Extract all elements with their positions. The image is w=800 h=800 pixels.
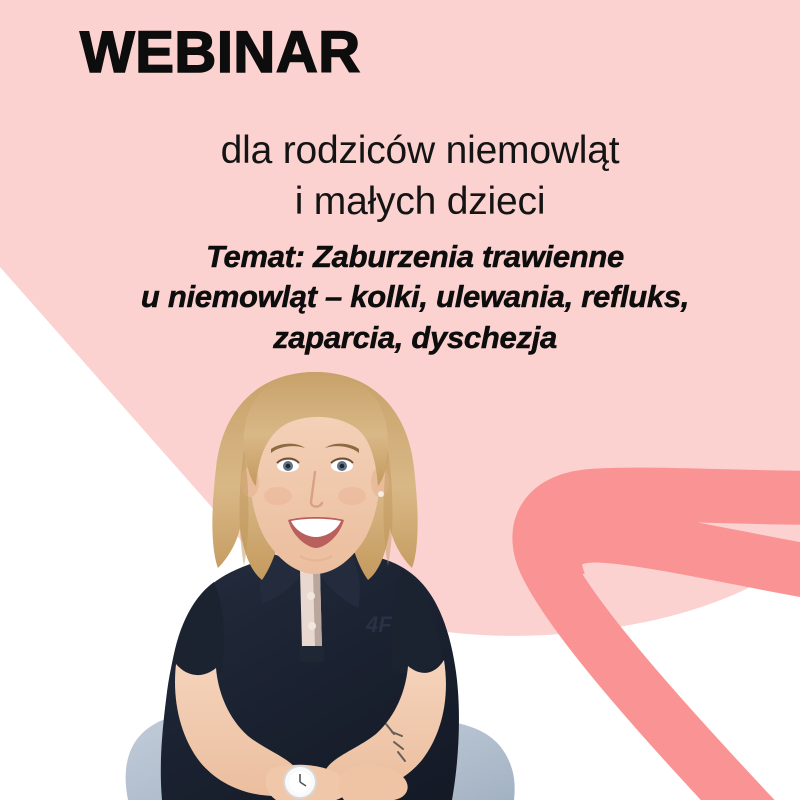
subtitle-block: dla rodziców niemowląt i małych dzieci: [140, 125, 700, 228]
pupil-left: [286, 464, 291, 469]
subtitle-line-2: i małych dzieci: [140, 176, 700, 227]
person-group: 4F: [126, 372, 515, 800]
sleeve-left: [172, 582, 224, 676]
earring: [378, 491, 384, 497]
polo-placket-end: [300, 646, 324, 662]
cheek-blush-right: [338, 487, 366, 505]
page-title: WEBINAR: [80, 24, 361, 82]
subtitle-line-1: dla rodziców niemowląt: [140, 125, 700, 176]
topic-line-1: Temat: Zaburzenia trawienne: [70, 237, 760, 277]
topic-block: Temat: Zaburzenia trawienne u niemowląt …: [70, 237, 760, 358]
webinar-poster: 4F: [0, 0, 800, 800]
shirt-logo-4f: 4F: [365, 612, 392, 637]
polo-button-1: [307, 592, 315, 600]
pupil-right: [340, 464, 345, 469]
topic-line-2: u niemowląt – kolki, ulewania, refluks,: [70, 277, 760, 317]
cheek-blush-left: [264, 487, 292, 505]
topic-line-3: zaparcia, dyschezja: [70, 318, 760, 358]
person-photo: 4F: [0, 0, 800, 800]
polo-button-2: [308, 622, 316, 630]
